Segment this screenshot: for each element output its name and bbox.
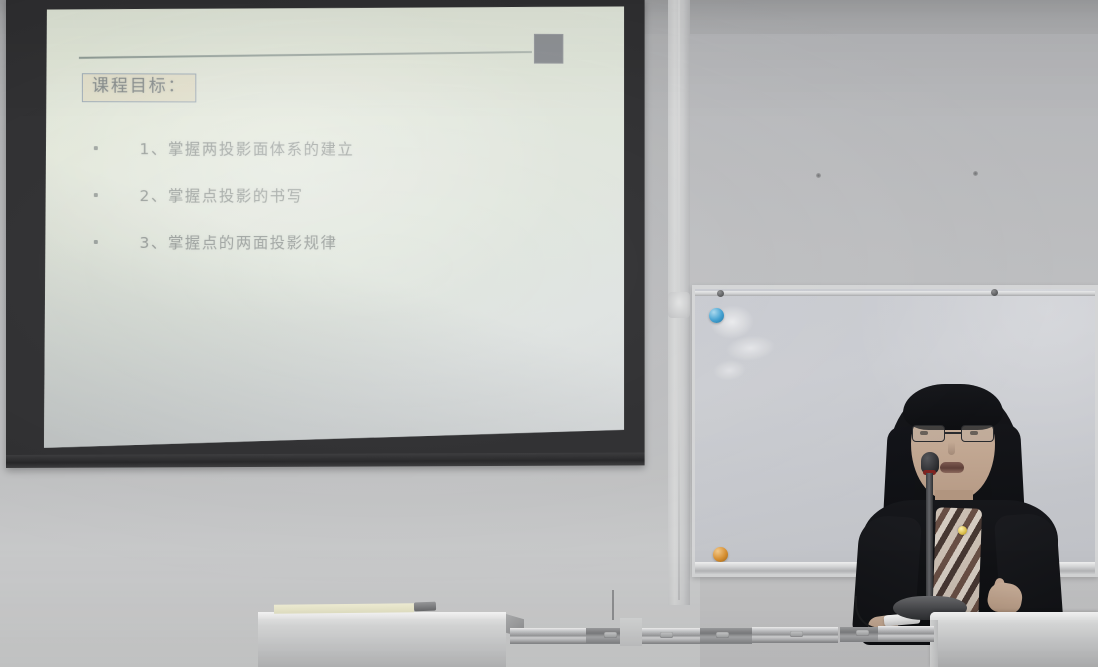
lectern-top-surface <box>930 612 1098 620</box>
magnet-blue-icon[interactable] <box>709 308 724 323</box>
desk-paper <box>274 603 414 613</box>
rail-mount-hole <box>660 632 673 638</box>
projection-screen-frame: 课程目标： 1、掌握两投影面体系的建立 2、掌握点投影的书写 3、掌握点的两面投… <box>6 0 645 468</box>
glasses-icon <box>910 425 996 442</box>
drawer-slide-rail <box>878 626 934 642</box>
magnet-orange-icon[interactable] <box>713 547 728 562</box>
projection-screen: 课程目标： 1、掌握两投影面体系的建立 2、掌握点投影的书写 3、掌握点的两面投… <box>44 4 624 448</box>
whiteboard-screw <box>717 290 724 297</box>
nose <box>948 442 955 455</box>
bullet-dot-icon <box>94 240 98 244</box>
slide: 课程目标： 1、掌握两投影面体系的建立 2、掌握点投影的书写 3、掌握点的两面投… <box>44 4 624 448</box>
slide-title: 课程目标： <box>92 76 187 97</box>
wall-nail-mark <box>973 171 978 176</box>
wall-nail-mark <box>816 173 821 178</box>
slide-bullet-item: 1、掌握两投影面体系的建立 <box>94 137 593 160</box>
bullet-dot-icon <box>94 193 98 197</box>
hanging-cord <box>612 590 614 620</box>
rail-divider <box>620 618 642 646</box>
rail-mount-hole <box>856 630 869 636</box>
slide-bullet-text: 1、掌握两投影面体系的建立 <box>140 137 355 159</box>
hair-fringe <box>903 384 1003 430</box>
rail-mount-hole <box>604 632 617 638</box>
wall-mount-bracket <box>668 292 690 318</box>
glasses-lens-right <box>961 425 994 442</box>
classroom-photo: 课程目标： 1、掌握两投影面体系的建立 2、掌握点投影的书写 3、掌握点的两面投… <box>0 0 1098 667</box>
mouth <box>940 462 964 473</box>
rail-mount-hole <box>716 632 729 638</box>
whiteboard-screw <box>991 289 998 296</box>
slide-placeholder-square <box>534 33 563 63</box>
slide-bullet-list: 1、掌握两投影面体系的建立 2、掌握点投影的书写 3、掌握点的两面投影规律 <box>94 137 593 278</box>
slide-bullet-text: 3、掌握点的两面投影规律 <box>140 231 338 253</box>
glasses-bridge <box>945 432 961 434</box>
front-desk-drawer <box>258 612 506 667</box>
microphone-stem <box>926 473 933 608</box>
lapel-badge <box>958 526 967 535</box>
slide-bullet-text: 2、掌握点投影的书写 <box>140 184 304 206</box>
glasses-lens-left <box>912 425 945 442</box>
lectern <box>930 612 1098 667</box>
rail-mount-hole <box>790 631 803 637</box>
bullet-dot-icon <box>94 146 98 150</box>
slide-title-box: 课程目标： <box>82 73 196 102</box>
slide-bullet-item: 2、掌握点投影的书写 <box>94 184 593 206</box>
slide-header-rule <box>79 51 532 59</box>
desk-clip <box>414 602 436 612</box>
whiteboard-top-rail <box>695 291 1095 296</box>
slide-bullet-item: 3、掌握点的两面投影规律 <box>94 231 593 253</box>
